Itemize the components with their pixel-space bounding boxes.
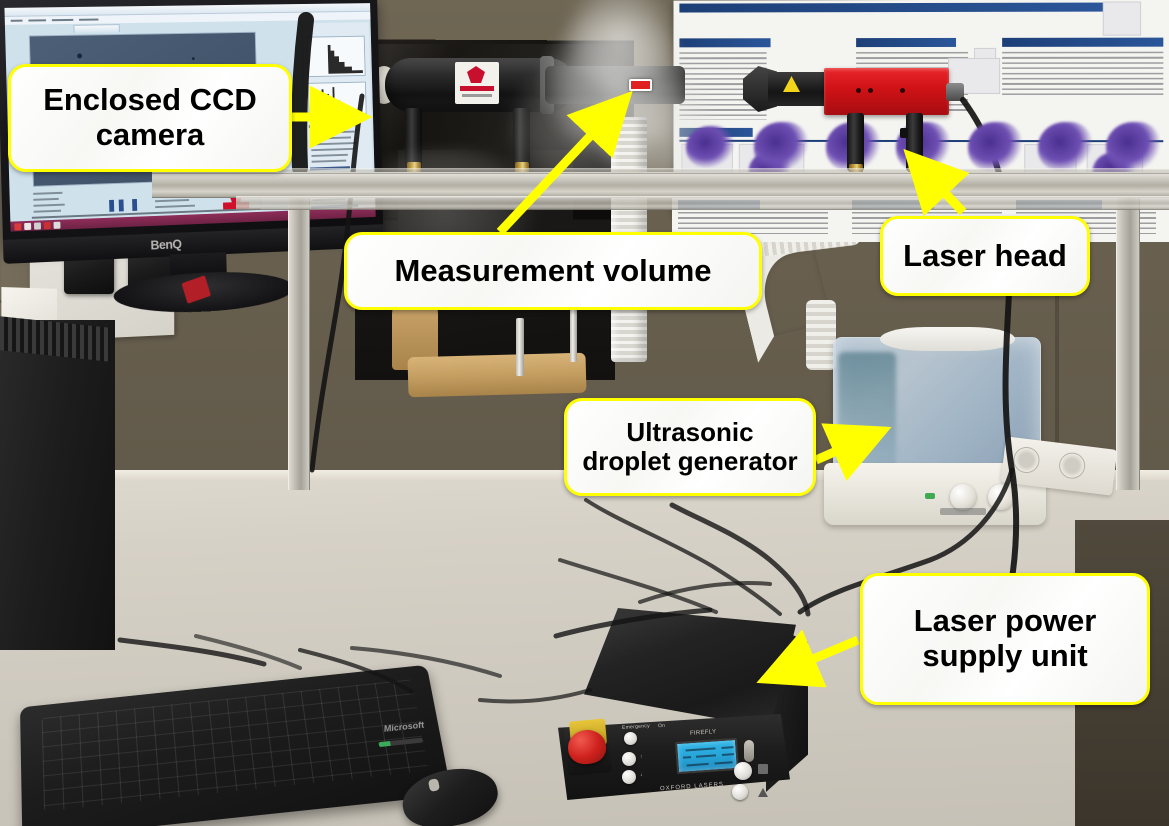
monitor-brand-label: BenQ <box>150 236 181 252</box>
laser-mount-post <box>847 113 864 171</box>
image-marker <box>119 199 124 211</box>
alu-rail-upper <box>152 172 1169 198</box>
humidifier-brand-mark <box>940 508 986 515</box>
camera-mount-post <box>405 108 422 170</box>
image-marker <box>109 200 114 212</box>
callout-psu-line1: Laser power <box>914 603 1097 638</box>
humidifier-power-led <box>925 493 935 499</box>
laser-head-body <box>824 68 949 115</box>
stool-seat <box>408 353 587 398</box>
psu-button-down[interactable] <box>622 770 636 784</box>
mouse-scroll-wheel[interactable] <box>428 778 440 792</box>
desktop-pc-tower <box>0 320 115 650</box>
psu-button-up[interactable] <box>622 752 636 766</box>
psu-button-down-label: ↓ <box>640 772 643 778</box>
callout-udg-line1: Ultrasonic <box>626 417 753 447</box>
psu-connector <box>758 764 768 774</box>
callout-enclosed-ccd-camera: Enclosed CCD camera <box>8 64 292 172</box>
camera-brand-label <box>455 62 499 104</box>
size-distribution-plot[interactable] <box>306 36 365 77</box>
annotated-photo-scene: BenQ Emergency On FIREFLY OXFORD LASERS … <box>0 0 1169 826</box>
callout-measurement-volume: Measurement volume <box>344 232 762 310</box>
psu-keyswitch[interactable] <box>744 740 754 762</box>
callout-mv-line1: Measurement volume <box>395 254 712 289</box>
alu-rail-upper-shadow <box>236 196 1169 210</box>
alu-column-right <box>1116 190 1140 490</box>
psu-button-start[interactable] <box>734 762 752 780</box>
flexible-hose-lower <box>806 300 836 370</box>
alu-column-left <box>288 190 310 490</box>
callout-laser-head: Laser head <box>880 216 1090 296</box>
callout-psu-line2: supply unit <box>922 638 1087 673</box>
measurement-volume-marker <box>629 79 652 91</box>
keyboard-keys[interactable] <box>42 679 429 811</box>
laser-power-supply-unit: Emergency On FIREFLY OXFORD LASERS ↑ ↓ <box>548 608 806 826</box>
callout-laserhead-line1: Laser head <box>903 239 1067 274</box>
callout-ccd-line2: camera <box>96 117 205 152</box>
brand-subtext <box>462 94 492 97</box>
velocity-histogram-plot[interactable] <box>308 82 367 116</box>
laser-mount-post <box>906 113 923 171</box>
app-document-tab[interactable] <box>73 24 119 33</box>
callout-laser-power-supply-unit: Laser power supply unit <box>860 573 1150 705</box>
callout-ultrasonic-droplet-generator: Ultrasonic droplet generator <box>564 398 816 496</box>
image-marker <box>132 199 137 211</box>
alu-rail-highlight <box>152 168 1169 174</box>
camera-mount-post <box>513 108 530 170</box>
psu-button-up-label: ↑ <box>640 754 643 760</box>
humidifier-knob-output[interactable] <box>950 484 976 510</box>
humidifier-water-level <box>838 352 896 474</box>
brand-logo-icon <box>467 66 485 83</box>
psu-lcd-display <box>675 738 739 774</box>
callout-ccd-line1: Enclosed CCD <box>43 82 257 117</box>
callout-udg-line2: droplet generator <box>582 446 797 476</box>
brand-wordmark <box>460 86 494 91</box>
psu-indicator-lamp <box>624 732 637 745</box>
humidifier-knob-power[interactable] <box>988 484 1014 510</box>
laser-cable-connector <box>946 83 964 101</box>
psu-top-cover <box>584 608 796 728</box>
stool-rod <box>516 318 524 376</box>
psu-on-label: On <box>658 723 666 729</box>
laser-post-clamp <box>900 128 908 138</box>
camera-extension-tube <box>545 66 685 104</box>
psu-button-stop[interactable] <box>732 784 748 800</box>
humidifier-tank-lid[interactable] <box>880 327 1015 351</box>
